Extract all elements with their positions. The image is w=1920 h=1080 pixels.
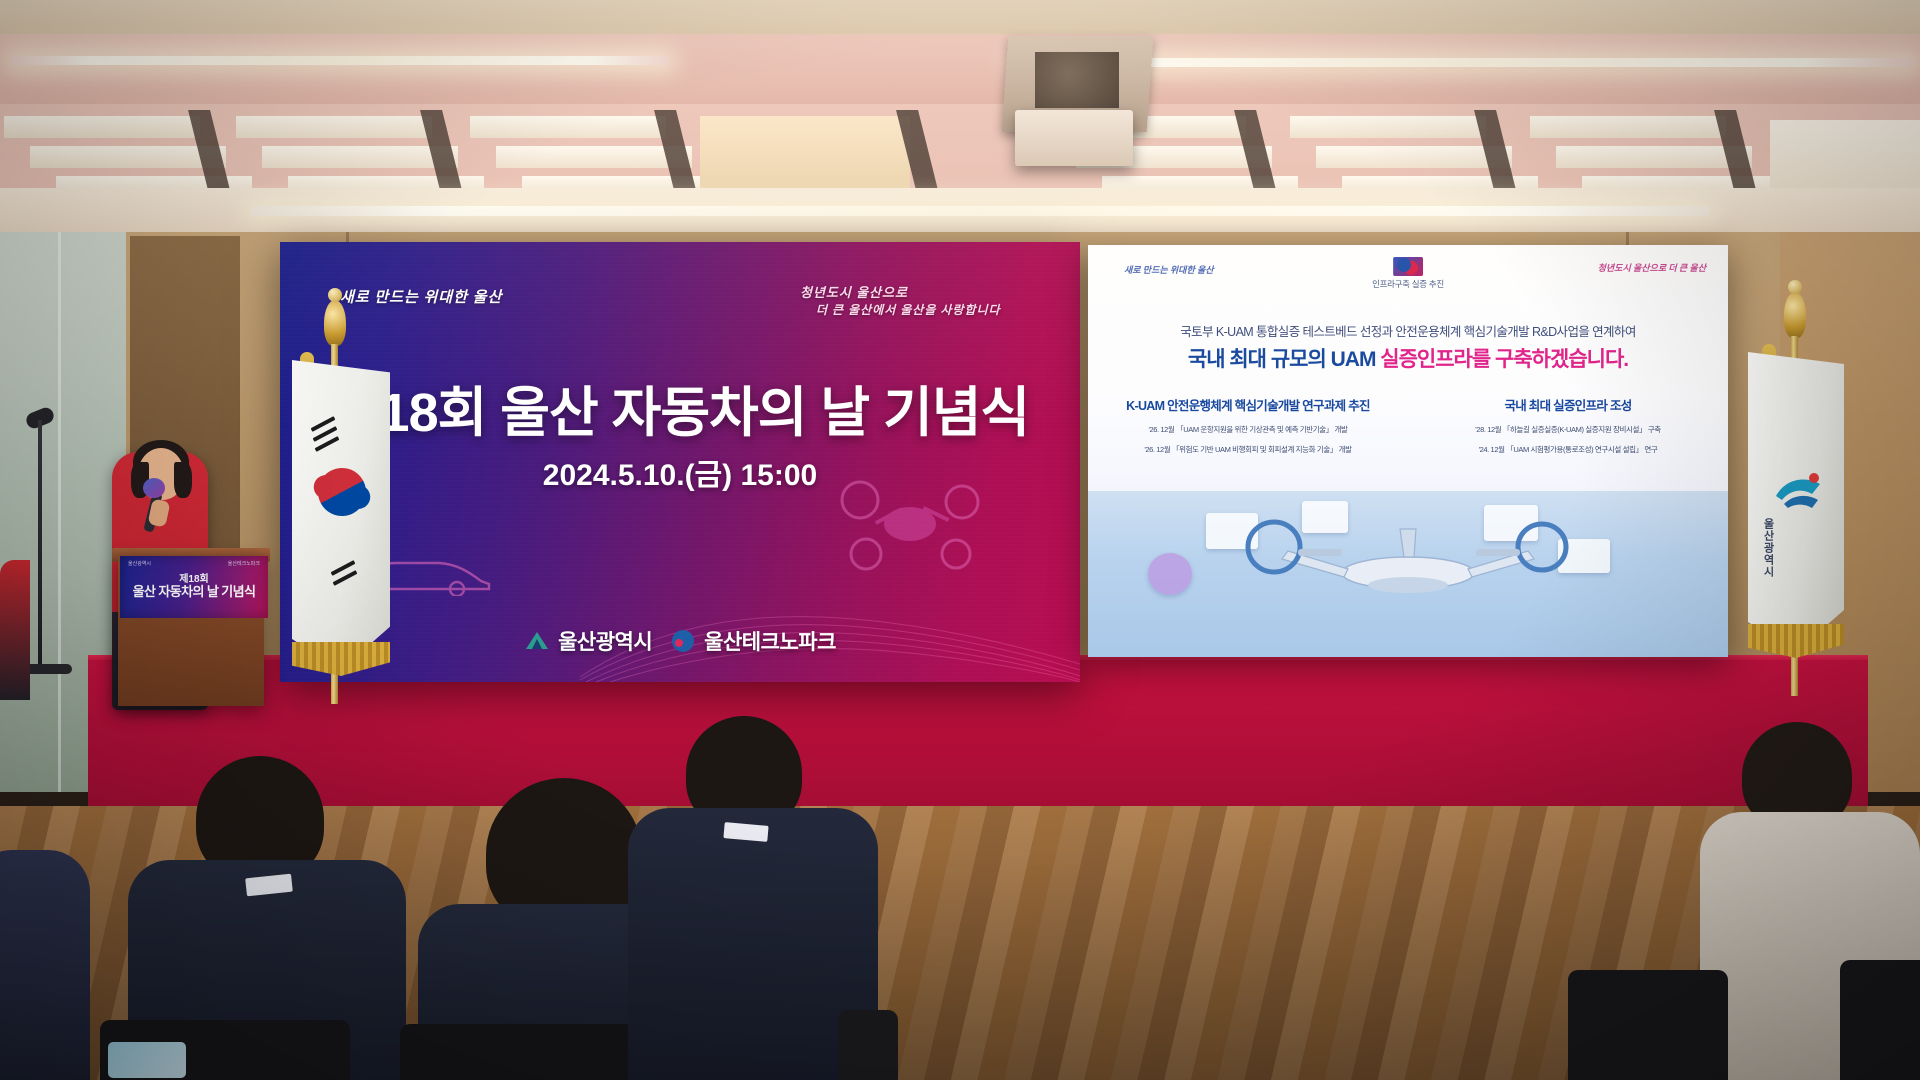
flag-korea-cloth bbox=[292, 360, 390, 670]
stage-red-carpet bbox=[88, 660, 1868, 810]
slide-lead-text: 국토부 K-UAM 통합실증 테스트베드 선정과 안전운용체계 핵심기술개발 R… bbox=[1088, 321, 1728, 340]
microphone-foam-cover bbox=[143, 478, 165, 498]
backdrop-slogan-left: 새로 만드는 위대한 울산 bbox=[340, 286, 560, 314]
audience-chair bbox=[1568, 970, 1728, 1080]
backdrop-logo-technopark: 울산테크노파크 bbox=[670, 626, 836, 656]
ceiling-coffer bbox=[4, 116, 200, 138]
podium-sign-mini-right: 울산테크노파크 bbox=[228, 560, 260, 567]
slide-logo-right-text: 청년도시 울산으로 더 큰 울산 bbox=[1598, 261, 1706, 274]
slide-headline: 국내 최대 규모의 UAM 실증인프라를 구축하겠습니다. bbox=[1088, 343, 1728, 373]
slide-logo-right: 청년도시 울산으로 더 큰 울산 bbox=[1598, 261, 1706, 274]
slide-headline-blue: 국내 최대 규모의 UAM bbox=[1188, 348, 1380, 371]
ceiling-coffer bbox=[470, 116, 666, 138]
flag-finial-korea bbox=[324, 300, 346, 346]
loudspeaker-icon bbox=[0, 560, 30, 700]
ceiling-coffer bbox=[262, 146, 458, 168]
slide-column-left: K-UAM 안전운행체계 핵심기술개발 연구과제 추진 '26. 12월 「UA… bbox=[1088, 395, 1408, 464]
audience-chair bbox=[1840, 960, 1920, 1080]
slide-logo-left-text: 새로 만드는 위대한 울산 bbox=[1124, 263, 1214, 276]
ceiling-light-strip-1 bbox=[10, 56, 670, 65]
projector-internals bbox=[1035, 52, 1119, 108]
slide-illustration-area bbox=[1088, 491, 1728, 657]
ceiling-coffer bbox=[1556, 146, 1752, 168]
backdrop-title: 제18회 울산 자동차의 날 기념식 bbox=[280, 368, 1080, 447]
slide-headline-pink: 실증인프라를 구축하겠습니다. bbox=[1380, 348, 1628, 371]
slide-column-right-heading: 국내 최대 실증인프라 조성 bbox=[1424, 395, 1712, 414]
backdrop-slogan-right-line1: 청년도시 울산으로 bbox=[800, 282, 1050, 301]
podium-sign-mini-left: 울산광역시 bbox=[128, 560, 151, 567]
flag-ulsan-cloth: 울산광역시 bbox=[1748, 352, 1844, 652]
podium-sign-line2: 울산 자동차의 날 기념식 bbox=[133, 585, 256, 600]
ceiling-coffer bbox=[1530, 116, 1726, 138]
ceiling bbox=[0, 0, 1920, 232]
ceiling-coffer bbox=[496, 146, 692, 168]
uam-aircraft-illustration bbox=[1228, 509, 1588, 613]
slide-column-left-bullet-2: '26. 12월 「위험도 기반 UAM 비행회피 및 회피설계 지능화 기술」… bbox=[1104, 444, 1392, 455]
presentation-screen[interactable]: 새로 만드는 위대한 울산 인프라구축 실증 추진 청년도시 울산으로 더 큰 … bbox=[1088, 245, 1728, 657]
ulsan-technopark-logo-icon bbox=[670, 629, 696, 653]
slide-logo-center: 인프라구축 실증 추진 bbox=[1372, 257, 1444, 290]
slide-column-left-bullet-1: '26. 12월 「UAM 운항지원을 위한 기상관측 및 예측 기반기술」 개… bbox=[1104, 424, 1392, 435]
backdrop-logo-technopark-label: 울산테크노파크 bbox=[704, 626, 836, 656]
slide-column-right: 국내 최대 실증인프라 조성 '28. 12월 「하늘길 실증실증(K-UAM)… bbox=[1408, 395, 1728, 464]
slide-column-right-bullet-2: '24. 12월 「UAM 시험평가용(통로조성) 연구시설 설립」 연구 bbox=[1424, 444, 1712, 455]
ceiling-coffer bbox=[1290, 116, 1486, 138]
flag-ulsan-label: 울산광역시 bbox=[1760, 518, 1776, 578]
backdrop-logo-city-label: 울산광역시 bbox=[558, 626, 652, 656]
ceiling-pink-band bbox=[0, 34, 1920, 104]
conference-hall-scene: 새로 만드는 위대한 울산 청년도시 울산으로 더 큰 울산에서 울산을 사랑합… bbox=[0, 0, 1920, 1080]
podium-sign: 울산광역시 울산테크노파크 제18회 울산 자동차의 날 기념식 bbox=[120, 556, 268, 618]
ceiling-coffer bbox=[1316, 146, 1512, 168]
mic-stand-pole bbox=[38, 420, 42, 670]
slide-columns: K-UAM 안전운행체계 핵심기술개발 연구과제 추진 '26. 12월 「UA… bbox=[1088, 395, 1728, 464]
flag-finial-ulsan bbox=[1784, 292, 1806, 338]
slide-logo-center-caption: 인프라구축 실증 추진 bbox=[1372, 278, 1444, 290]
slide-card-thumb bbox=[1148, 553, 1192, 595]
event-backdrop-banner: 새로 만드는 위대한 울산 청년도시 울산으로 더 큰 울산에서 울산을 사랑합… bbox=[280, 242, 1080, 682]
backdrop-logo-row: 울산광역시 울산테크노파크 bbox=[280, 626, 1080, 656]
ulsan-city-logo-icon bbox=[524, 629, 550, 653]
slide-logo-left: 새로 만드는 위대한 울산 bbox=[1124, 263, 1214, 276]
slide-upper-area: 새로 만드는 위대한 울산 인프라구축 실증 추진 청년도시 울산으로 더 큰 … bbox=[1088, 245, 1728, 495]
backdrop-logo-city: 울산광역시 bbox=[524, 626, 652, 656]
ceiling-coffer bbox=[236, 116, 432, 138]
backdrop-slogan-left-text: 새로 만드는 위대한 울산 bbox=[340, 286, 560, 307]
uam-drone-icon bbox=[830, 474, 990, 574]
ceiling-light-strip-3 bbox=[250, 206, 1710, 216]
backdrop-slogan-right: 청년도시 울산으로 더 큰 울산에서 울산을 사랑합니다 bbox=[800, 282, 1050, 326]
audience-chair bbox=[838, 1010, 898, 1080]
projector-lens bbox=[1015, 110, 1133, 166]
slide-column-left-heading: K-UAM 안전운행체계 핵심기술개발 연구과제 추진 bbox=[1104, 395, 1392, 414]
ceiling-coffer bbox=[30, 146, 226, 168]
backdrop-slogan-right-line2: 더 큰 울산에서 울산을 사랑합니다 bbox=[816, 301, 1050, 318]
speaker-person-hair-side bbox=[174, 462, 192, 498]
audience-phone-screen bbox=[108, 1042, 186, 1078]
slide-column-right-bullet-1: '28. 12월 「하늘길 실증실증(K-UAM) 실증지원 장비시설」 구축 bbox=[1424, 424, 1712, 435]
audience-member-body bbox=[0, 850, 90, 1080]
korea-emblem-icon bbox=[1393, 257, 1423, 276]
ulsan-city-emblem-icon bbox=[1772, 470, 1824, 510]
